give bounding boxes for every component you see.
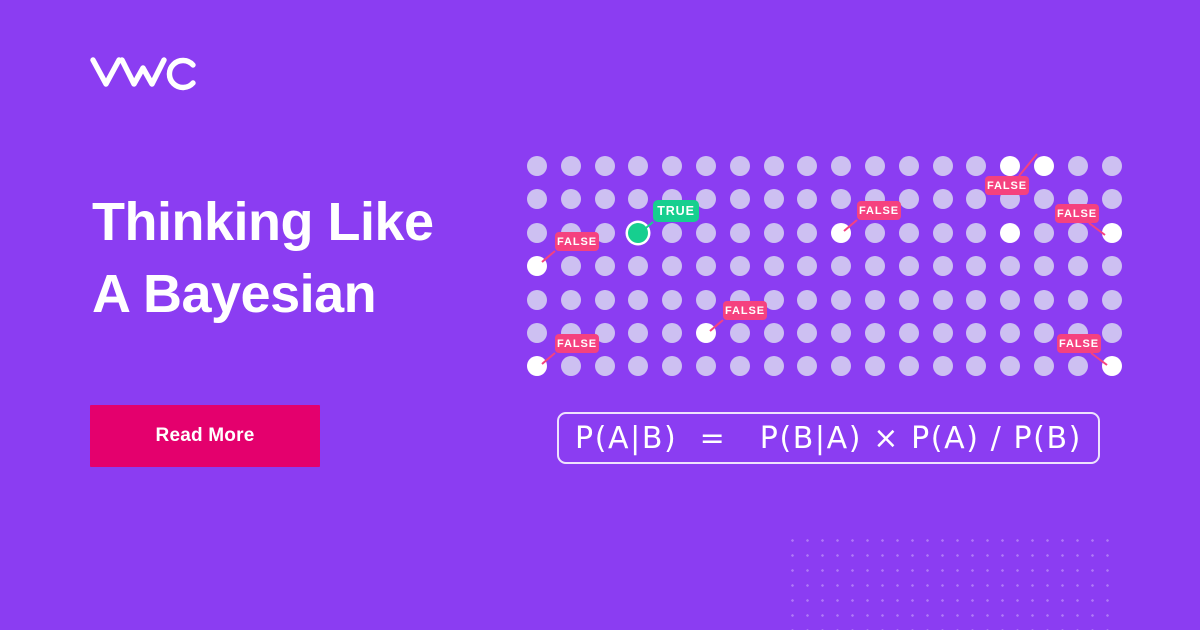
- grid-dot: [899, 356, 919, 376]
- grid-dot: [1034, 323, 1054, 343]
- grid-dot: [1102, 156, 1122, 176]
- grid-dot-white: [1102, 356, 1122, 376]
- grid-dot: [595, 189, 615, 209]
- grid-dot: [561, 156, 581, 176]
- grid-dot: [1000, 290, 1020, 310]
- grid-dot: [1034, 223, 1054, 243]
- callout-label-false: FALSE: [555, 232, 599, 251]
- grid-dot: [1000, 323, 1020, 343]
- grid-dot: [696, 256, 716, 276]
- grid-dot: [561, 290, 581, 310]
- grid-dot: [865, 156, 885, 176]
- grid-dot: [1068, 156, 1088, 176]
- grid-dot: [966, 256, 986, 276]
- grid-dot: [662, 356, 682, 376]
- grid-dot: [561, 189, 581, 209]
- grid-dot: [797, 189, 817, 209]
- grid-dot: [527, 156, 547, 176]
- page-title-line-2: A Bayesian: [92, 258, 562, 330]
- grid-dot: [966, 223, 986, 243]
- grid-dot: [1068, 256, 1088, 276]
- grid-dot: [966, 189, 986, 209]
- probability-dot-grid: TRUEFALSEFALSEFALSEFALSEFALSEFALSEFALSE: [519, 148, 1129, 386]
- grid-dot: [1000, 256, 1020, 276]
- grid-dot: [933, 290, 953, 310]
- grid-dot: [831, 290, 851, 310]
- grid-dot: [730, 189, 750, 209]
- grid-dot: [730, 256, 750, 276]
- grid-dot: [764, 356, 784, 376]
- callout-label-false: FALSE: [857, 201, 901, 220]
- page-title-line-1: Thinking Like: [92, 186, 562, 258]
- grid-dot: [764, 323, 784, 343]
- grid-dot: [764, 256, 784, 276]
- grid-dot: [797, 156, 817, 176]
- grid-dot: [662, 323, 682, 343]
- callout-label-false: FALSE: [1055, 204, 1099, 223]
- grid-dot: [764, 189, 784, 209]
- grid-dot-white: [1000, 223, 1020, 243]
- grid-dot: [865, 323, 885, 343]
- grid-dot: [1102, 290, 1122, 310]
- read-more-button[interactable]: Read More: [90, 405, 320, 467]
- page-title: Thinking Like A Bayesian: [92, 186, 562, 330]
- grid-dot-white: [527, 356, 547, 376]
- grid-dot: [696, 356, 716, 376]
- grid-dot: [1034, 189, 1054, 209]
- callout-label-false: FALSE: [985, 176, 1029, 195]
- bayes-formula-box: P(A|B) = P(B|A) × P(A) / P(B): [557, 412, 1100, 464]
- grid-dot: [730, 356, 750, 376]
- grid-dot: [764, 223, 784, 243]
- grid-dot: [1000, 356, 1020, 376]
- grid-dot: [527, 189, 547, 209]
- grid-dot: [865, 223, 885, 243]
- grid-dot: [527, 290, 547, 310]
- grid-dot: [966, 156, 986, 176]
- decorative-dot-pattern: [785, 533, 1115, 630]
- grid-dot: [899, 323, 919, 343]
- grid-dot-green: [628, 223, 648, 243]
- grid-dot-white: [1102, 223, 1122, 243]
- grid-dot: [831, 256, 851, 276]
- grid-dot: [865, 356, 885, 376]
- grid-dot-white: [831, 223, 851, 243]
- bayes-formula-text: P(A|B) = P(B|A) × P(A) / P(B): [575, 421, 1082, 456]
- grid-dot: [1034, 256, 1054, 276]
- grid-dot: [696, 223, 716, 243]
- grid-dot-white: [1034, 156, 1054, 176]
- grid-dot: [933, 189, 953, 209]
- grid-dot: [730, 223, 750, 243]
- grid-dot: [933, 323, 953, 343]
- grid-dot: [933, 356, 953, 376]
- grid-dot: [595, 356, 615, 376]
- grid-dot: [696, 156, 716, 176]
- grid-dot-white: [527, 256, 547, 276]
- grid-dot: [595, 290, 615, 310]
- grid-dot: [628, 156, 648, 176]
- grid-dot: [797, 223, 817, 243]
- callout-label-false: FALSE: [723, 301, 767, 320]
- grid-dot: [662, 256, 682, 276]
- grid-dot: [1068, 290, 1088, 310]
- grid-dot: [595, 156, 615, 176]
- grid-dot: [1102, 189, 1122, 209]
- grid-dot: [628, 356, 648, 376]
- grid-dot: [1034, 290, 1054, 310]
- grid-dot: [797, 356, 817, 376]
- grid-dot: [1068, 223, 1088, 243]
- grid-dot: [730, 323, 750, 343]
- grid-dot: [696, 290, 716, 310]
- grid-dot: [662, 156, 682, 176]
- grid-dot: [933, 256, 953, 276]
- grid-dot: [899, 223, 919, 243]
- grid-dot: [1068, 356, 1088, 376]
- grid-dot: [966, 356, 986, 376]
- poster-canvas: Thinking Like A Bayesian Read More P(A|B…: [0, 0, 1200, 630]
- grid-dot: [628, 290, 648, 310]
- grid-dot: [527, 223, 547, 243]
- grid-dot: [831, 356, 851, 376]
- grid-dot: [1102, 256, 1122, 276]
- grid-dot: [662, 223, 682, 243]
- vwo-logo[interactable]: [89, 50, 197, 94]
- grid-dot: [933, 223, 953, 243]
- callout-label-true: TRUE: [653, 200, 699, 222]
- callout-label-false: FALSE: [1057, 334, 1101, 353]
- grid-dot: [865, 256, 885, 276]
- grid-dot: [628, 323, 648, 343]
- grid-dot: [865, 290, 885, 310]
- grid-dot: [797, 323, 817, 343]
- grid-dot: [899, 156, 919, 176]
- grid-dot: [1034, 356, 1054, 376]
- grid-dot: [966, 290, 986, 310]
- grid-dot: [966, 323, 986, 343]
- grid-dot: [831, 156, 851, 176]
- grid-dot: [696, 189, 716, 209]
- grid-dot: [628, 189, 648, 209]
- grid-dot: [899, 290, 919, 310]
- grid-dot: [797, 256, 817, 276]
- grid-dot: [561, 356, 581, 376]
- grid-dot-white: [1000, 156, 1020, 176]
- grid-dot: [764, 156, 784, 176]
- callout-label-false: FALSE: [555, 334, 599, 353]
- grid-dot: [899, 189, 919, 209]
- grid-dot: [899, 256, 919, 276]
- grid-dot: [1102, 323, 1122, 343]
- grid-dot: [662, 290, 682, 310]
- grid-dot: [933, 156, 953, 176]
- grid-dot: [831, 189, 851, 209]
- grid-dot: [561, 256, 581, 276]
- grid-dot: [730, 156, 750, 176]
- grid-dot-white: [696, 323, 716, 343]
- grid-dot: [797, 290, 817, 310]
- grid-dot: [831, 323, 851, 343]
- grid-dot: [527, 323, 547, 343]
- grid-dot: [628, 256, 648, 276]
- grid-dot: [595, 256, 615, 276]
